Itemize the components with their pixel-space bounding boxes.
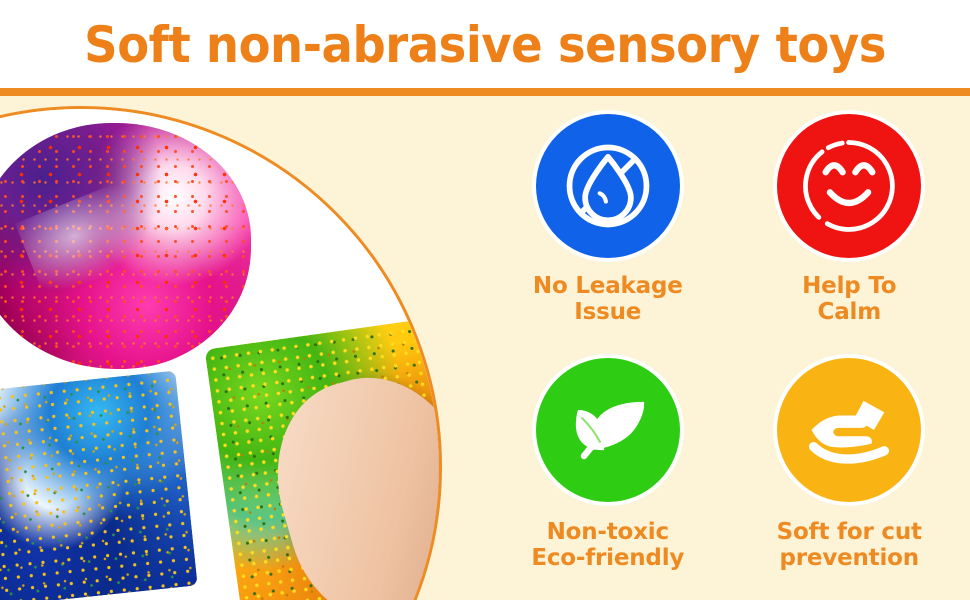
sensory-toy-photo-collage (0, 106, 442, 600)
feature-label: Non-toxic Eco-friendly (531, 520, 684, 572)
feature-no-leakage: No Leakage Issue (487, 96, 729, 348)
header-divider (0, 88, 970, 96)
feature-label: Soft for cut prevention (777, 520, 922, 572)
no-water-leak-icon (536, 114, 680, 258)
feature-label: No Leakage Issue (533, 274, 683, 326)
leaves-icon (536, 358, 680, 502)
product-infographic: Soft non-abrasive sensory toys (0, 0, 970, 600)
open-hand-icon (777, 358, 921, 502)
smiley-face-icon (777, 114, 921, 258)
feature-non-toxic: Non-toxic Eco-friendly (487, 348, 729, 600)
header-banner: Soft non-abrasive sensory toys (0, 0, 970, 88)
glitter-overlay (0, 371, 198, 600)
feature-label: Help To Calm (802, 274, 896, 326)
collage-canvas (0, 109, 442, 600)
feature-help-to-calm: Help To Calm (729, 96, 970, 348)
photo-blue-gold-glitter-pad (0, 371, 198, 600)
feature-grid: No Leakage Issue Help To Calm (487, 96, 970, 600)
photo-pink-purple-glitter-toy (0, 123, 251, 369)
feature-soft-cut-prevention: Soft for cut prevention (729, 348, 970, 600)
page-title: Soft non-abrasive sensory toys (84, 20, 886, 70)
